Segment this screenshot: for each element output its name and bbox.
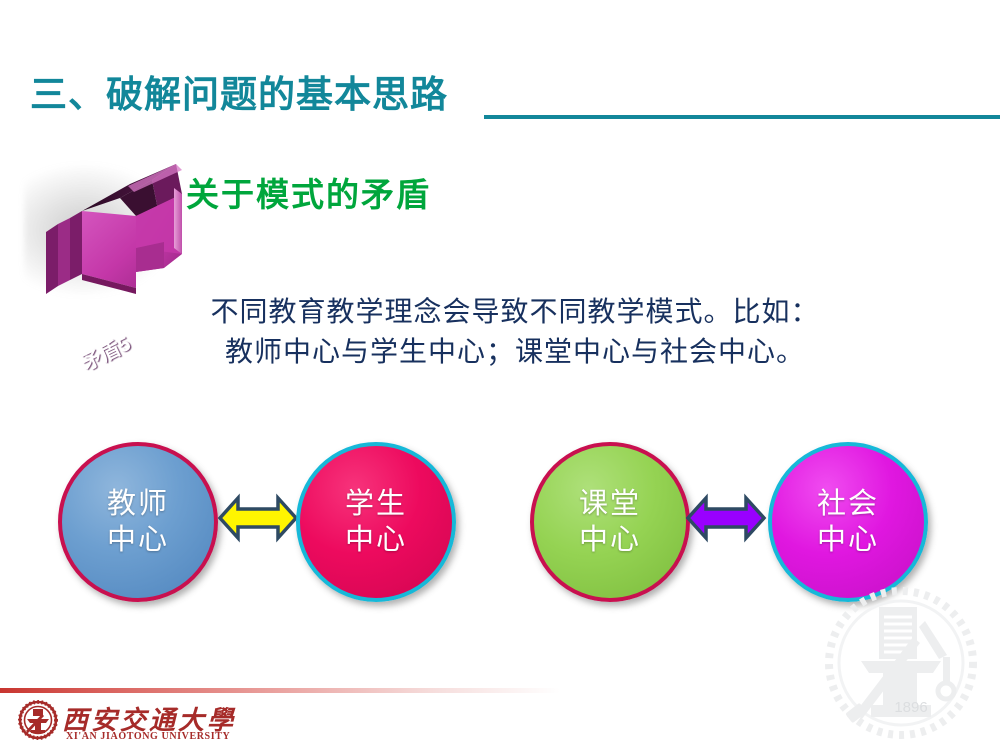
node-classroom-center: 课堂 中心 xyxy=(530,442,690,602)
contradiction-banner: 矛盾5 xyxy=(24,150,204,310)
node-label-line1: 课堂 xyxy=(579,486,641,522)
university-name-en: XI'AN JIAOTONG UNIVERSITY xyxy=(66,731,230,742)
node-label-line1: 教师 xyxy=(107,486,169,522)
concept-diagram: 教师 中心 学生 中心 课堂 中心 社会 中心 xyxy=(0,438,1000,608)
footer-divider xyxy=(0,688,560,693)
node-label-line2: 中心 xyxy=(817,522,879,558)
double-arrow-icon xyxy=(216,486,300,550)
university-seal-icon xyxy=(18,700,58,740)
title-underline-rule xyxy=(484,115,1000,119)
body-paragraph: 不同教育教学理念会导致不同教学模式。比如： 教师中心与学生中心；课堂中心与社会中… xyxy=(120,292,910,372)
title-row: 三、破解问题的基本思路 xyxy=(0,72,1000,126)
node-teacher-center: 教师 中心 xyxy=(58,442,218,602)
node-label-line1: 学生 xyxy=(345,486,407,522)
node-society-center: 社会 中心 xyxy=(768,442,928,602)
section-subtitle: 关于模式的矛盾 xyxy=(186,168,431,216)
slide-canvas: 三、破解问题的基本思路 xyxy=(0,0,1000,750)
body-line-2: 教师中心与学生中心；课堂中心与社会中心。 xyxy=(120,332,910,372)
watermark-year-text: 1896 xyxy=(894,699,927,716)
body-line-1: 不同教育教学理念会导致不同教学模式。比如： xyxy=(120,292,910,332)
node-student-center: 学生 中心 xyxy=(296,442,456,602)
banner-arrow-icon xyxy=(24,150,204,310)
double-arrow-icon xyxy=(684,486,768,550)
university-logo: 西安交通大學 XI'AN JIAOTONG UNIVERSITY xyxy=(18,700,198,745)
node-label-line1: 社会 xyxy=(817,486,879,522)
node-label-line2: 中心 xyxy=(107,522,169,558)
node-label-line2: 中心 xyxy=(345,522,407,558)
node-label-line2: 中心 xyxy=(579,522,641,558)
page-title: 三、破解问题的基本思路 xyxy=(30,72,448,118)
